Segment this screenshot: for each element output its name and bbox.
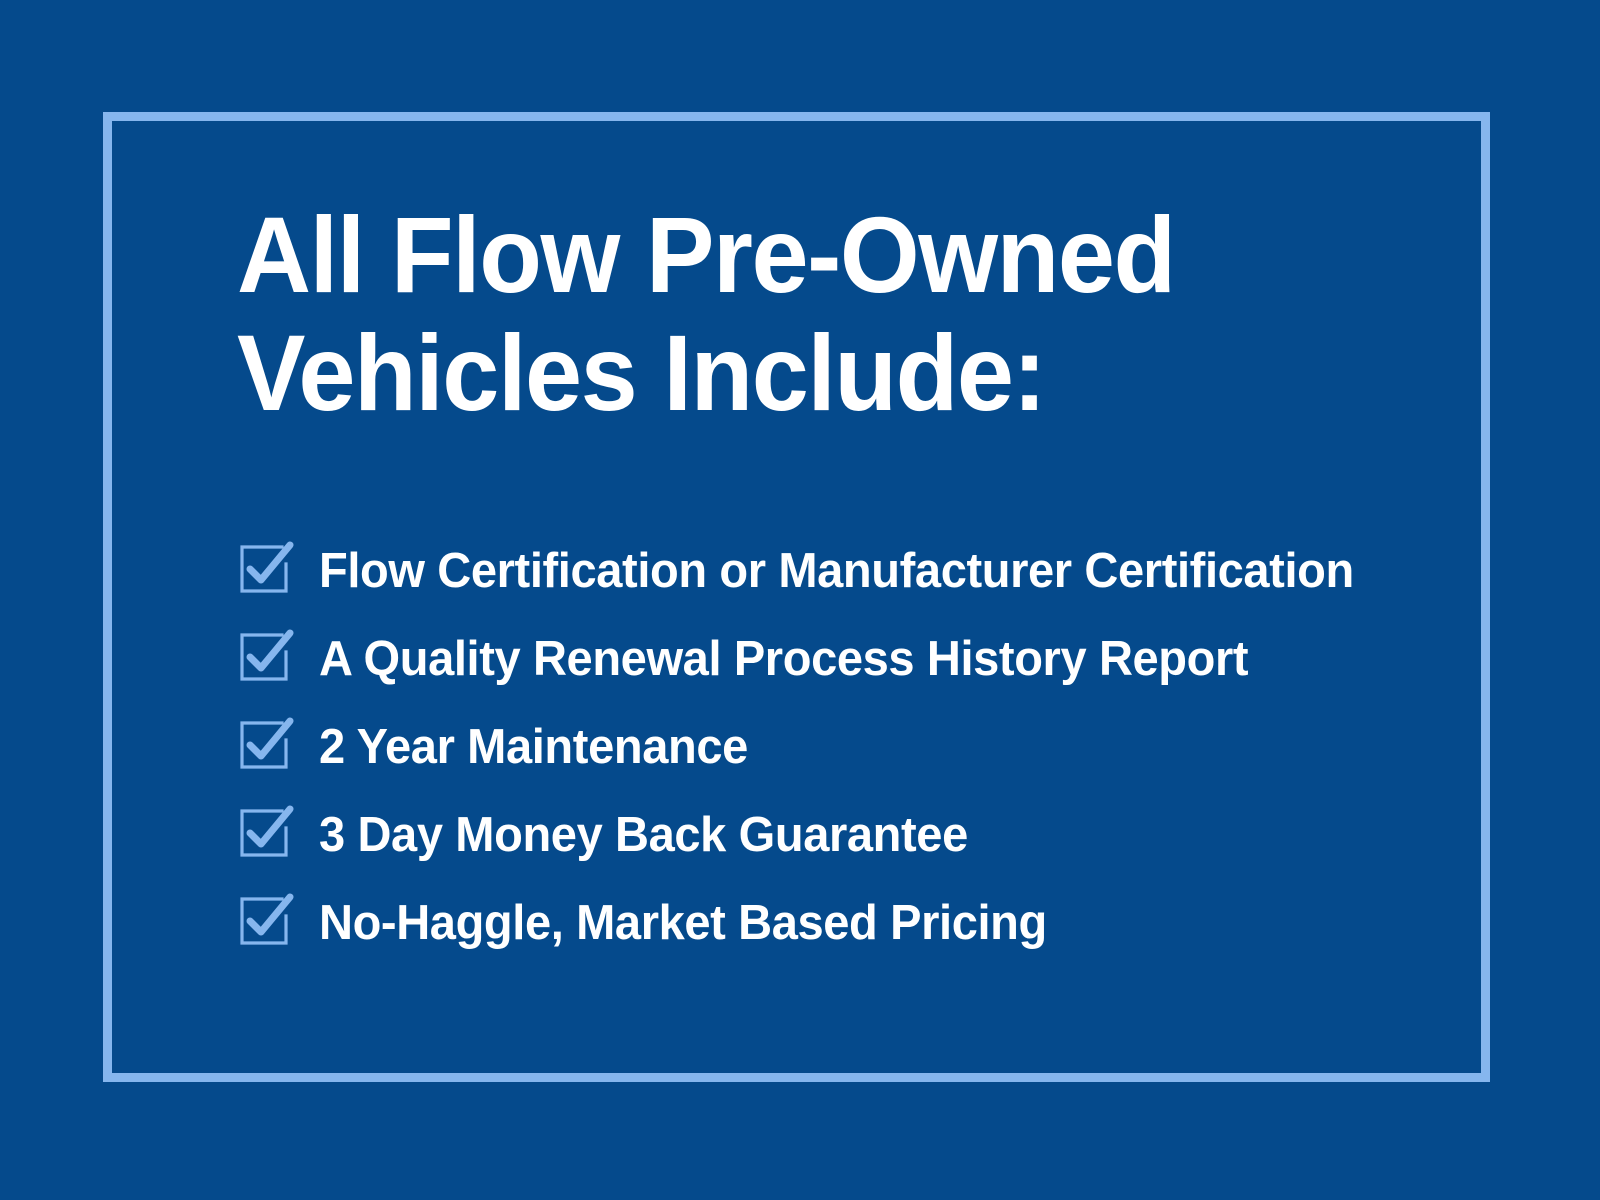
feature-label: 2 Year Maintenance [319,721,748,773]
promo-poster: All Flow Pre-Owned Vehicles Include: Flo… [0,0,1600,1200]
headline-line-2: Vehicles Include: [237,314,1377,432]
list-item: 2 Year Maintenance [238,703,1438,791]
list-item: 3 Day Money Back Guarantee [238,791,1438,879]
feature-label: A Quality Renewal Process History Report [319,633,1248,685]
checked-checkbox-icon [239,806,293,860]
feature-label: 3 Day Money Back Guarantee [319,809,968,861]
poster-content: All Flow Pre-Owned Vehicles Include: Flo… [237,196,1437,432]
feature-label: No-Haggle, Market Based Pricing [319,897,1047,949]
list-item: A Quality Renewal Process History Report [238,615,1438,703]
checked-checkbox-icon [239,894,293,948]
checked-checkbox-icon [239,630,293,684]
page-title: All Flow Pre-Owned Vehicles Include: [237,196,1377,432]
checked-checkbox-icon [239,718,293,772]
list-item: Flow Certification or Manufacturer Certi… [238,527,1438,615]
checked-checkbox-icon [239,542,293,596]
headline-line-1: All Flow Pre-Owned [237,196,1377,314]
list-item: No-Haggle, Market Based Pricing [238,879,1438,967]
feature-list: Flow Certification or Manufacturer Certi… [238,527,1438,967]
feature-label: Flow Certification or Manufacturer Certi… [319,545,1354,597]
